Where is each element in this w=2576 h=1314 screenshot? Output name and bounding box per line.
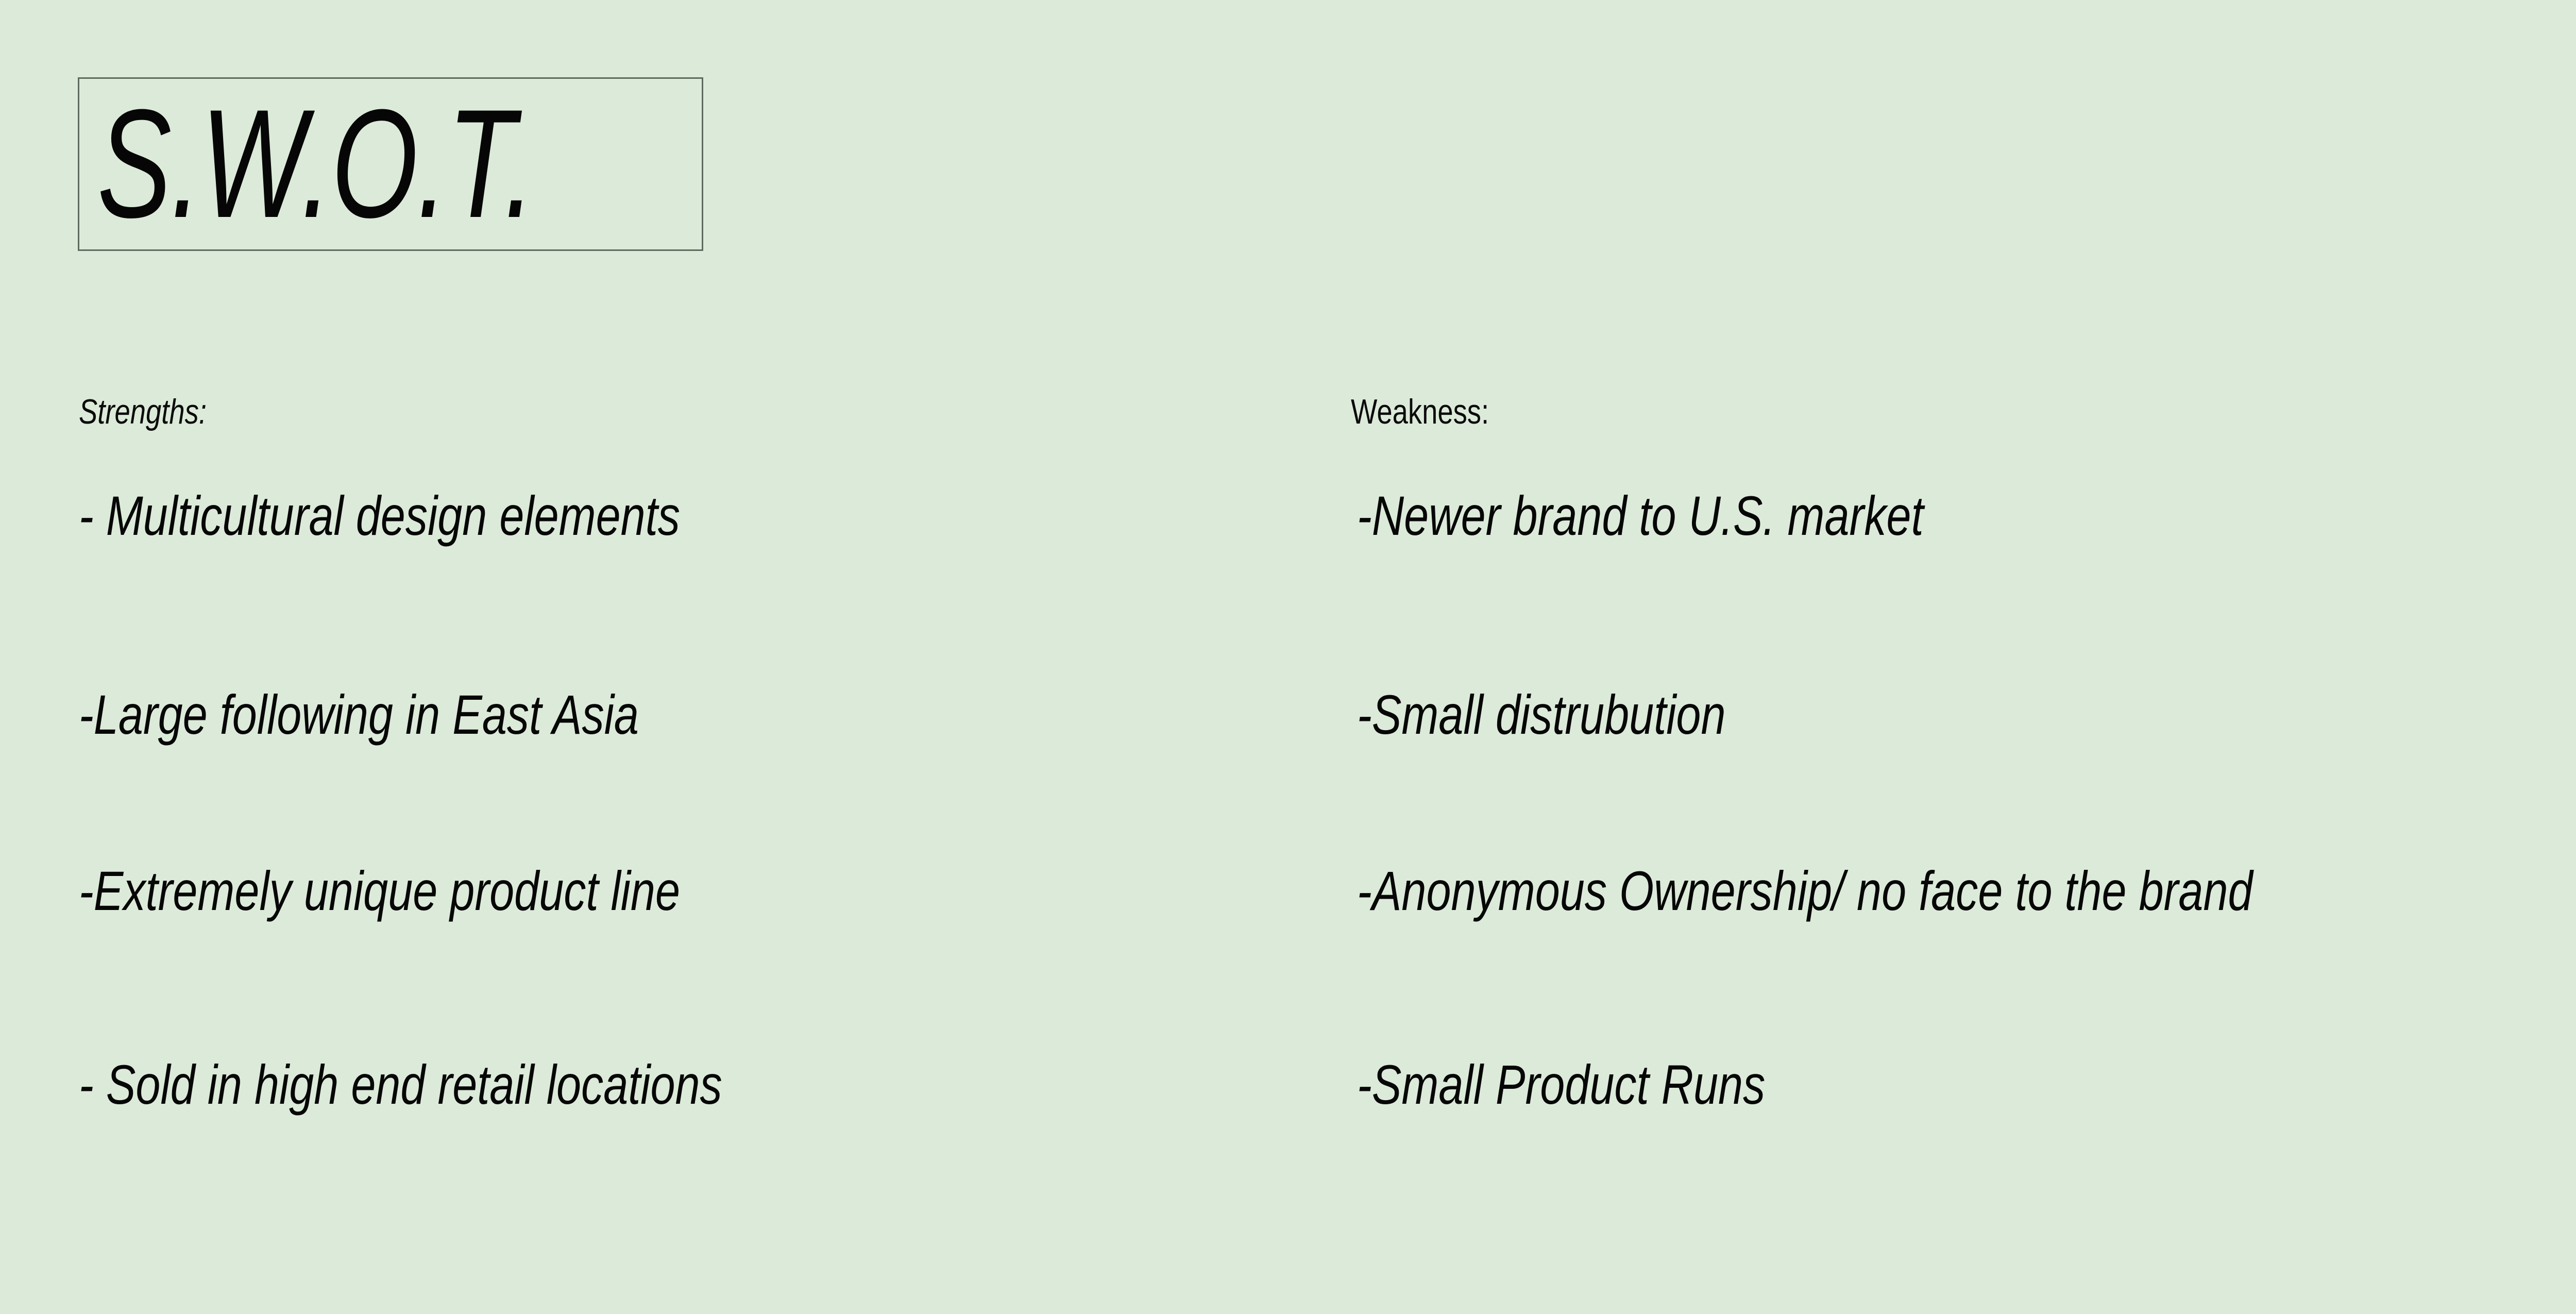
list-item: -Anonymous Ownership/ no face to the bra…	[1357, 861, 2576, 921]
weakness-heading: Weakness:	[1351, 392, 2348, 432]
list-item: -Newer brand to U.S. market	[1357, 485, 1924, 546]
list-item: -Extremely unique product line	[79, 861, 680, 921]
strengths-column: Strengths: - Multicultural design elemen…	[79, 392, 1305, 432]
list-item: -Small Product Runs	[1357, 1054, 1765, 1115]
list-item: -Small distrubution	[1357, 684, 1726, 745]
list-item: -Large following in East Asia	[79, 684, 639, 745]
swot-columns: Strengths: - Multicultural design elemen…	[0, 0, 2576, 1314]
weakness-column: Weakness: -Newer brand to U.S. market -S…	[1351, 392, 2576, 432]
strengths-heading: Strengths:	[79, 392, 1060, 432]
list-item: - Sold in high end retail locations	[79, 1054, 722, 1115]
list-item: - Multicultural design elements	[79, 485, 680, 546]
